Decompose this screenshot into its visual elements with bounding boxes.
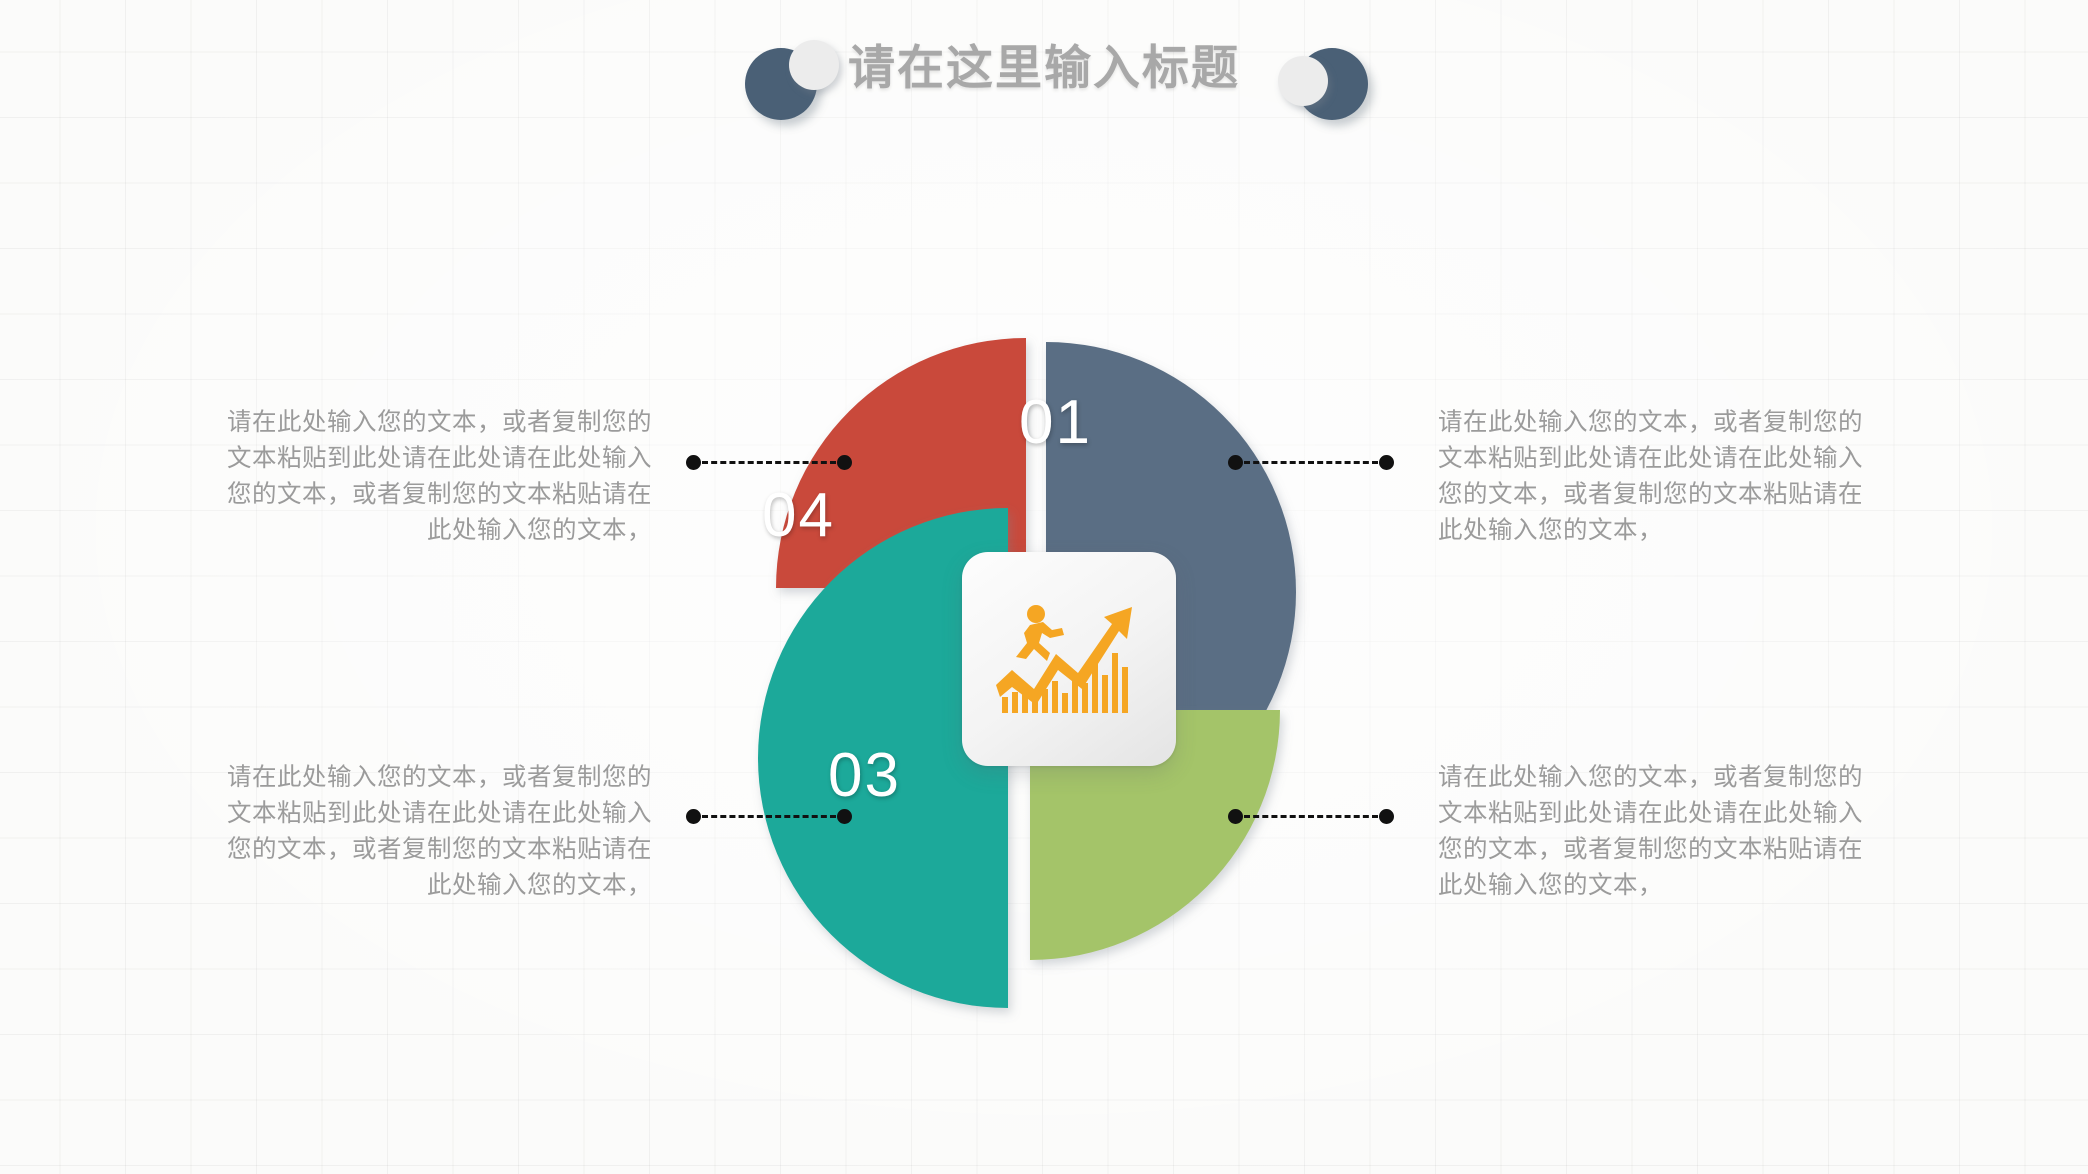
connector-dot: [837, 809, 852, 824]
connector-dash: [1244, 815, 1378, 818]
connector-dot: [1228, 809, 1243, 824]
connector-dot: [686, 809, 701, 824]
light-circle-icon: [1278, 56, 1328, 106]
growth-chart-running-person-icon: [994, 597, 1144, 722]
segment-01-description: 请在此处输入您的文本，或者复制您的文本粘贴到此处请在此处请在此处输入您的文本，或…: [222, 405, 652, 549]
connector-dash: [702, 815, 836, 818]
connector-dash: [702, 461, 836, 464]
connector-dot: [1228, 455, 1243, 470]
connector-line-04: [1228, 806, 1394, 826]
connector-dot: [837, 455, 852, 470]
connector-dot: [1379, 455, 1394, 470]
connector-line-01: [686, 452, 852, 472]
connector-dot: [686, 455, 701, 470]
connector-dot: [1379, 809, 1394, 824]
page-header: 请在这里输入标题: [0, 0, 2088, 140]
connector-line-03: [686, 806, 852, 826]
connector-line-02: [1228, 452, 1394, 472]
segment-03-description: 请在此处输入您的文本，或者复制您的文本粘贴到此处请在此处请在此处输入您的文本，或…: [1438, 760, 1868, 904]
segment-04-description: 请在此处输入您的文本，或者复制您的文本粘贴到此处请在此处请在此处输入您的文本，或…: [222, 760, 652, 904]
connector-dash: [1244, 461, 1378, 464]
center-icon-card[interactable]: [962, 552, 1176, 766]
segment-02-description: 请在此处输入您的文本，或者复制您的文本粘贴到此处请在此处请在此处输入您的文本，或…: [1438, 405, 1868, 549]
title-decoration-right: [1278, 40, 1362, 124]
page-title: 请在这里输入标题: [0, 44, 2088, 91]
